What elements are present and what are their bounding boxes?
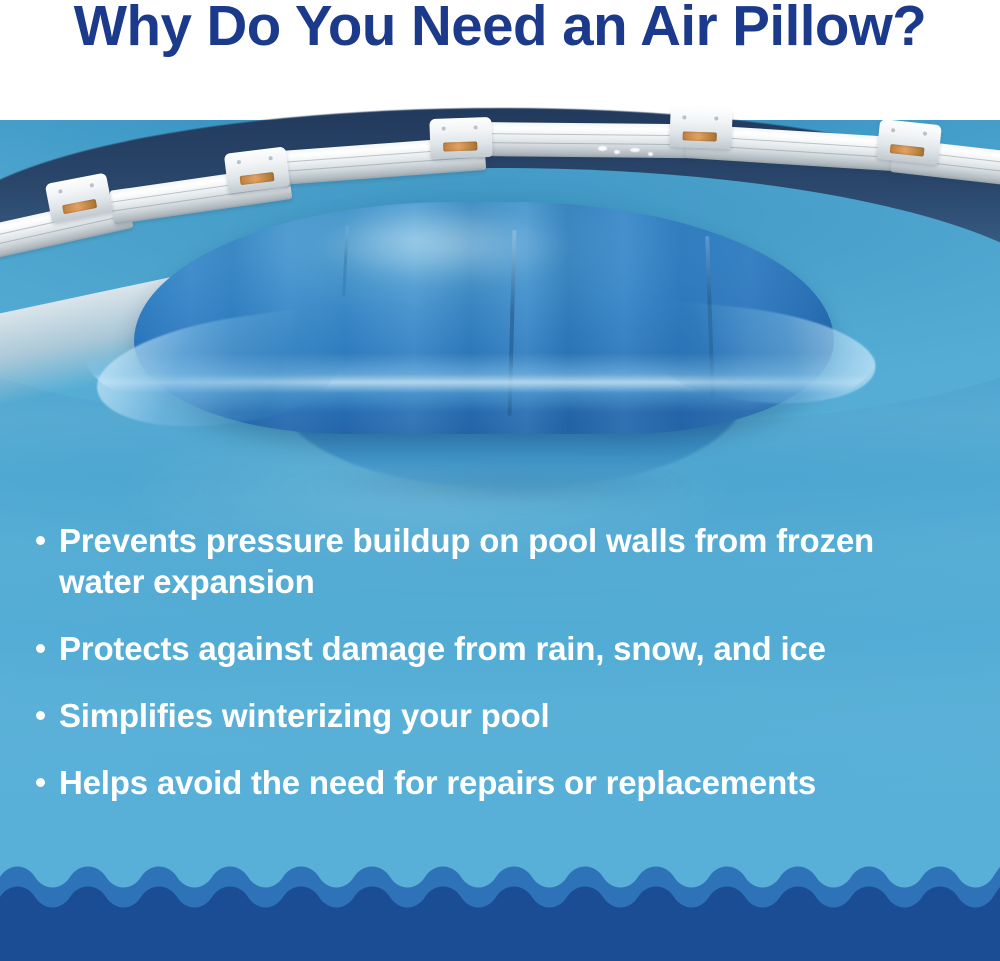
list-item-label: Prevents pressure buildup on pool walls …	[59, 520, 939, 602]
bullet-point-icon	[36, 711, 45, 720]
wave-footer	[0, 855, 1000, 961]
water-glint	[648, 152, 653, 156]
rail-connector-plate	[669, 107, 732, 149]
connector-label-tab	[683, 131, 717, 141]
list-item-label: Protects against damage from rain, snow,…	[59, 628, 826, 669]
rail-connector-plate	[224, 146, 290, 193]
list-item: Prevents pressure buildup on pool walls …	[0, 520, 1000, 602]
page-title: Why Do You Need an Air Pillow?	[5, 0, 995, 61]
list-item: Simplifies winterizing your pool	[0, 695, 1000, 736]
rail-connector-plate	[429, 117, 492, 159]
air-pillow-infographic: Why Do You Need an Air Pillow? Prevents …	[0, 0, 1000, 961]
water-glint	[614, 150, 620, 154]
list-item: Helps avoid the need for repairs or repl…	[0, 762, 1000, 803]
list-item: Protects against damage from rain, snow,…	[0, 628, 1000, 669]
rail-segment	[478, 122, 693, 158]
bullet-point-icon	[36, 778, 45, 787]
rail-connector-plate	[876, 119, 942, 165]
water-glint	[630, 148, 640, 152]
bullet-point-icon	[36, 536, 45, 545]
connector-label-tab	[240, 172, 275, 185]
title-band: Why Do You Need an Air Pillow?	[0, 0, 1000, 62]
benefits-list: Prevents pressure buildup on pool walls …	[0, 520, 1000, 829]
bullet-point-icon	[36, 644, 45, 653]
air-pillow	[86, 202, 876, 502]
connector-label-tab	[890, 144, 925, 157]
pillow-highlight	[306, 214, 606, 306]
list-item-label: Simplifies winterizing your pool	[59, 695, 549, 736]
list-item-label: Helps avoid the need for repairs or repl…	[59, 762, 816, 803]
water-glint	[598, 146, 607, 151]
connector-label-tab	[443, 141, 477, 151]
